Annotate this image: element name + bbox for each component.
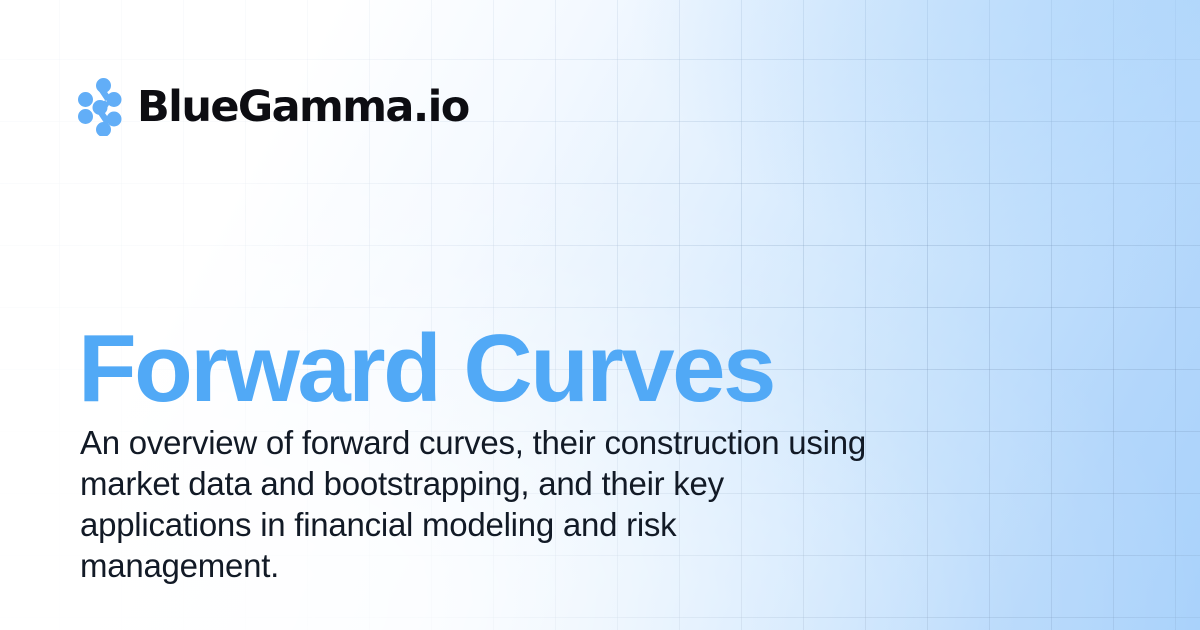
brand-logo-lockup[interactable]: BlueGamma.io (78, 76, 469, 138)
card-content: BlueGamma.io Forward Curves An overview … (0, 0, 1200, 630)
og-card: BlueGamma.io Forward Curves An overview … (0, 0, 1200, 630)
brand-wordmark: BlueGamma.io (137, 86, 469, 129)
page-subtitle: An overview of forward curves, their con… (80, 422, 870, 586)
page-title: Forward Curves (78, 320, 774, 418)
bluegamma-node-chain-logo-icon (78, 78, 122, 136)
